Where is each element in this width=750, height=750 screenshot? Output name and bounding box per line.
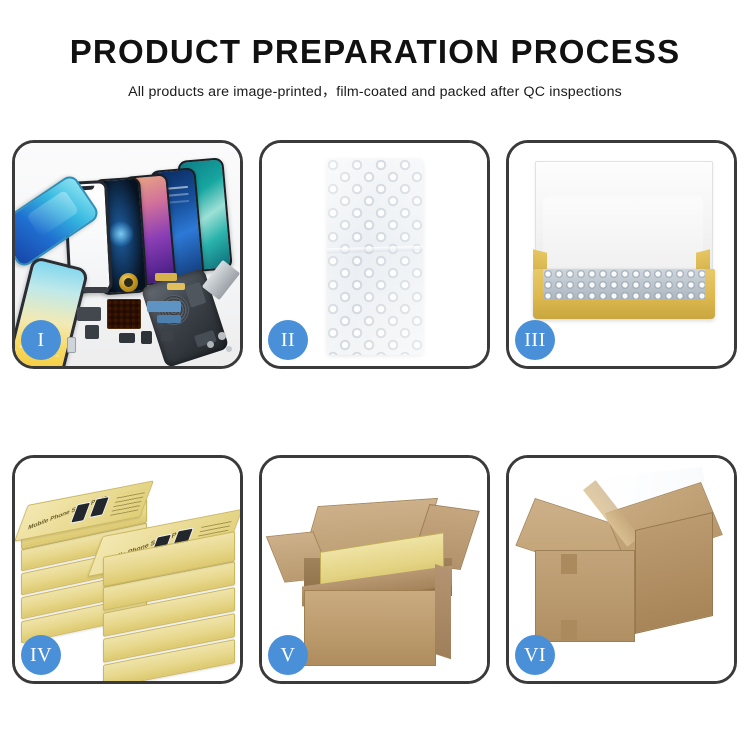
step-panel-6: VI [506, 455, 737, 684]
step-badge-1: I [21, 320, 61, 360]
part-speaker [83, 287, 109, 293]
part-connector-1 [77, 307, 101, 321]
step-panel-3: III [506, 140, 737, 369]
page-title: PRODUCT PREPARATION PROCESS [0, 34, 750, 70]
page-subtitle: All products are image-printed，film-coat… [0, 81, 750, 101]
retail-box-screen-image [70, 502, 91, 524]
retail-box-spec-lines [110, 489, 146, 516]
sealed-carton-front-face [535, 550, 635, 642]
part-flex-cable-2 [167, 283, 185, 290]
part-screw-1 [218, 332, 226, 340]
step-panel-1: I [12, 140, 243, 369]
step-badge-4: IV [21, 635, 61, 675]
sealed-carton-side-face [635, 512, 713, 634]
foam-insert [543, 199, 703, 267]
bubble-wrapped-contents [543, 269, 705, 299]
part-button [119, 333, 135, 343]
part-camera-small [161, 329, 173, 341]
part-camera-module [119, 273, 138, 292]
steps-grid: I II III [12, 140, 738, 684]
step-badge-3: III [515, 320, 555, 360]
step-panel-4: Mobile Phone Spare Parts Mobile Phone Sp… [12, 455, 243, 684]
carton-side-face [435, 564, 451, 659]
step-panel-2: II [259, 140, 490, 369]
part-ribbon-cable-1 [147, 301, 181, 312]
product-preparation-infographic: PRODUCT PREPARATION PROCESS All products… [0, 0, 750, 750]
retail-box-screen-image [89, 496, 110, 518]
part-screw-3 [226, 346, 232, 352]
plastic-film-overlay [319, 153, 431, 361]
header: PRODUCT PREPARATION PROCESS All products… [0, 34, 750, 101]
step-badge-2: II [268, 320, 308, 360]
step-badge-6: VI [515, 635, 555, 675]
part-ribbon-cable-2 [157, 315, 181, 323]
carton-front-face [304, 590, 436, 666]
part-jack [141, 331, 152, 344]
part-logic-board [107, 299, 141, 329]
part-flex-cable-1 [155, 273, 177, 281]
part-connector-2 [85, 325, 99, 339]
step-panel-5: V [259, 455, 490, 684]
part-sim-tray [67, 337, 76, 353]
step-badge-5: V [268, 635, 308, 675]
carton-handle-tab-bottom [561, 620, 577, 640]
part-screw-2 [207, 341, 214, 348]
carton-handle-tab-top [561, 554, 577, 574]
